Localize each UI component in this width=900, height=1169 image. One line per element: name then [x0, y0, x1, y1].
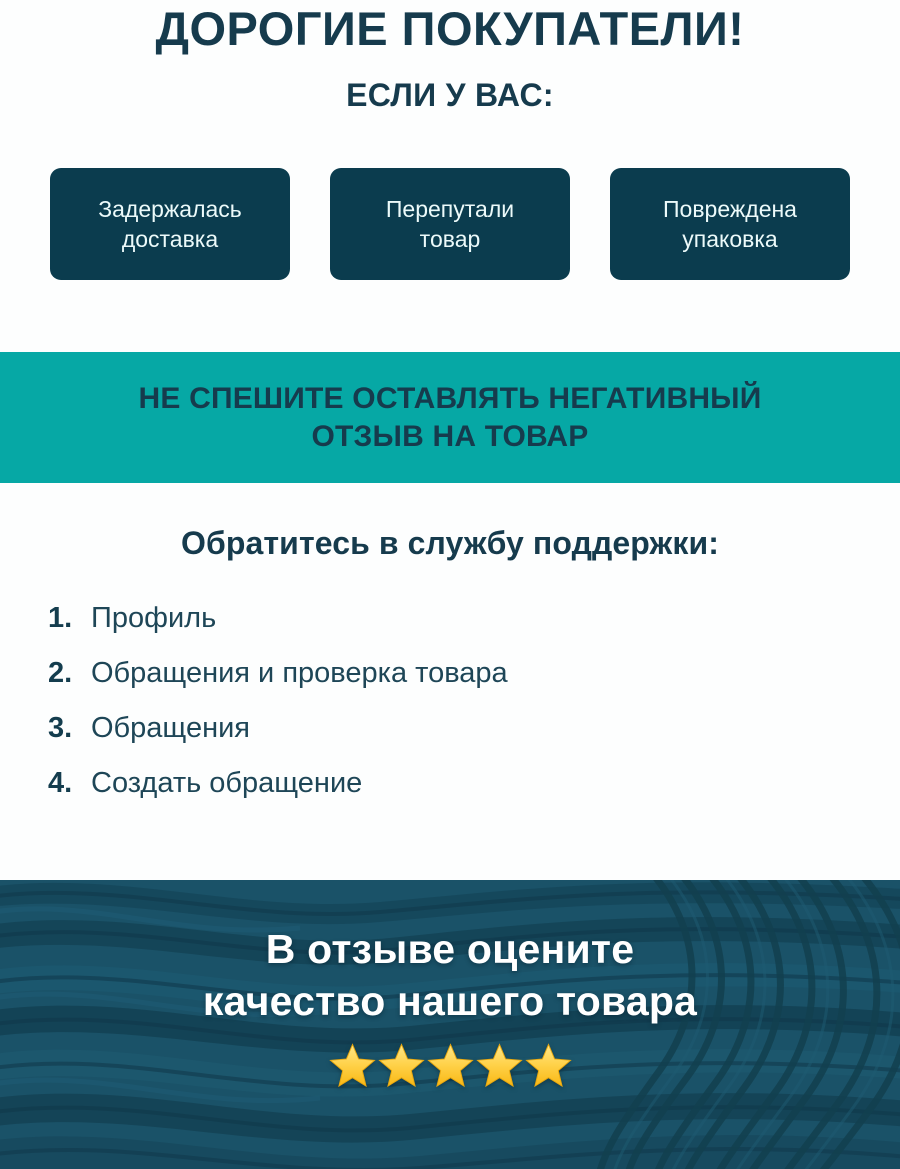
problem-card-label: Задержалась доставка [98, 194, 242, 255]
warning-banner: НЕ СПЕШИТЕ ОСТАВЛЯТЬ НЕГАТИВНЫЙ ОТЗЫВ НА… [0, 352, 900, 483]
step-number: 3. [48, 712, 82, 745]
step-number: 1. [48, 602, 82, 635]
problem-card-damaged-package: Повреждена упаковка [610, 168, 850, 280]
footer-message: В отзыве оцените качество нашего товара [203, 924, 697, 1027]
support-step-item: 4. Создать обращение [48, 767, 848, 822]
star-icon [427, 1043, 474, 1088]
problem-card-wrong-item: Перепутали товар [330, 168, 570, 280]
warning-banner-text: НЕ СПЕШИТЕ ОСТАВЛЯТЬ НЕГАТИВНЫЙ ОТЗЫВ НА… [98, 380, 801, 455]
problem-card-label: Повреждена упаковка [663, 194, 797, 255]
step-label: Обращения и проверка товара [91, 657, 508, 690]
step-label: Профиль [91, 602, 216, 635]
page-subtitle: ЕСЛИ У ВАС: [0, 78, 900, 113]
step-label: Обращения [91, 712, 250, 745]
star-icon [476, 1043, 523, 1088]
support-steps-list: 1. Профиль 2. Обращения и проверка товар… [48, 602, 848, 822]
footer-content: В отзыве оцените качество нашего товара [0, 880, 900, 1169]
support-step-item: 3. Обращения [48, 712, 848, 767]
promo-infographic: ДОРОГИЕ ПОКУПАТЕЛИ! ЕСЛИ У ВАС: Задержал… [0, 0, 900, 1169]
step-number: 4. [48, 767, 82, 800]
star-icon [378, 1043, 425, 1088]
rating-stars [329, 1043, 572, 1088]
problem-card-list: Задержалась доставка Перепутали товар По… [50, 168, 850, 280]
star-icon [329, 1043, 376, 1088]
page-title: ДОРОГИЕ ПОКУПАТЕЛИ! [0, 4, 900, 53]
header-section: ДОРОГИЕ ПОКУПАТЕЛИ! ЕСЛИ У ВАС: [0, 0, 900, 150]
step-label: Создать обращение [91, 767, 362, 800]
support-step-item: 2. Обращения и проверка товара [48, 657, 848, 712]
support-step-item: 1. Профиль [48, 602, 848, 657]
step-number: 2. [48, 657, 82, 690]
problem-card-label: Перепутали товар [386, 194, 514, 255]
support-section-title: Обратитесь в службу поддержки: [0, 525, 900, 562]
footer-section: В отзыве оцените качество нашего товара [0, 880, 900, 1169]
star-icon [525, 1043, 572, 1088]
problem-card-delayed-delivery: Задержалась доставка [50, 168, 290, 280]
